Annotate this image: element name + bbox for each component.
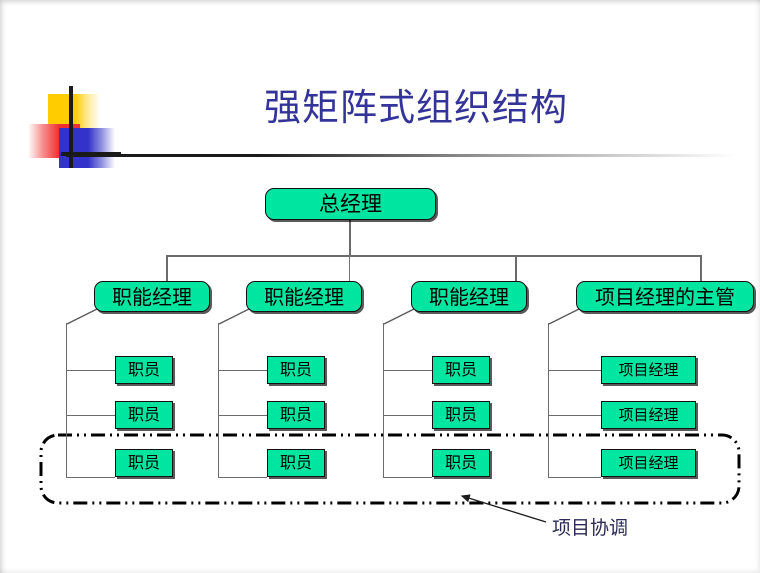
connector-branch-c4r3 (548, 477, 601, 478)
connector-branch-c2r2 (218, 415, 267, 416)
node-project-manager-c4r2-label: 项目经理 (618, 408, 678, 423)
node-functional-manager-3[interactable]: 职能经理 (411, 281, 527, 312)
node-staff-c3r2[interactable]: 职员 (432, 401, 490, 429)
node-staff-c3r1-label: 职员 (445, 362, 477, 378)
project-coordination-label: 项目协调 (552, 513, 628, 540)
connector-branch-c4r1 (548, 370, 601, 371)
node-project-manager-c4r3-label: 项目经理 (618, 456, 678, 471)
decoration-blue-square (59, 128, 115, 168)
node-staff-c1r3[interactable]: 职员 (115, 449, 173, 477)
node-project-manager-c4r1-label: 项目经理 (618, 363, 678, 378)
connector-branch-c1r3 (66, 477, 115, 478)
connector-drop-col1 (166, 255, 168, 281)
connector-drop-col2 (349, 255, 350, 281)
node-staff-c2r1-label: 职员 (280, 362, 312, 378)
connector-drop-col3 (515, 255, 517, 281)
node-staff-c2r2[interactable]: 职员 (267, 401, 325, 429)
connector-branch-c4r2 (548, 415, 601, 416)
connector-drop-col4 (700, 255, 702, 281)
connector-branch-c3r3 (383, 477, 432, 478)
node-staff-c1r1[interactable]: 职员 (115, 356, 173, 384)
node-general-manager-label: 总经理 (319, 194, 382, 215)
node-functional-manager-3-label: 职能经理 (429, 287, 509, 307)
connector-branch-c2r3 (218, 477, 267, 478)
connector-horizontal-bus (166, 255, 702, 257)
slide-content-area: 强矩阵式组织结构 (6, 6, 754, 567)
node-functional-manager-1[interactable]: 职能经理 (94, 281, 210, 312)
node-project-manager-supervisor-label: 项目经理的主管 (595, 287, 735, 307)
slide-canvas: 强矩阵式组织结构 (0, 0, 760, 573)
connector-spine-col4 (548, 323, 549, 478)
node-functional-manager-2[interactable]: 职能经理 (246, 281, 362, 312)
connector-spine-col1 (66, 323, 67, 478)
connector-branch-c1r2 (66, 415, 115, 416)
node-functional-manager-1-label: 职能经理 (112, 287, 192, 307)
node-staff-c1r2-label: 职员 (128, 407, 160, 423)
node-functional-manager-2-label: 职能经理 (264, 287, 344, 307)
node-project-manager-c4r3[interactable]: 项目经理 (601, 449, 696, 477)
connector-branch-c3r2 (383, 415, 432, 416)
node-staff-c3r3-label: 职员 (445, 455, 477, 471)
node-staff-c2r2-label: 职员 (280, 407, 312, 423)
node-staff-c3r3[interactable]: 职员 (432, 449, 490, 477)
connector-spine-col3 (383, 323, 384, 478)
title-divider (66, 154, 756, 157)
project-coordination-arrow (446, 490, 566, 530)
node-project-manager-c4r2[interactable]: 项目经理 (601, 401, 696, 429)
node-general-manager[interactable]: 总经理 (265, 188, 436, 220)
node-project-manager-supervisor[interactable]: 项目经理的主管 (576, 281, 754, 312)
node-staff-c3r2-label: 职员 (445, 407, 477, 423)
node-staff-c3r1[interactable]: 职员 (432, 356, 490, 384)
page-title: 强矩阵式组织结构 (156, 85, 676, 131)
connector-spine-col2 (218, 323, 219, 478)
connector-root-stem (349, 218, 351, 256)
node-staff-c2r1[interactable]: 职员 (267, 356, 325, 384)
connector-branch-c3r1 (383, 370, 432, 371)
node-staff-c2r3-label: 职员 (280, 455, 312, 471)
node-staff-c1r2[interactable]: 职员 (115, 401, 173, 429)
node-staff-c1r3-label: 职员 (128, 455, 160, 471)
node-staff-c1r1-label: 职员 (128, 362, 160, 378)
connector-branch-c1r1 (66, 370, 115, 371)
connector-branch-c2r1 (218, 370, 267, 371)
node-staff-c2r3[interactable]: 职员 (267, 449, 325, 477)
node-project-manager-c4r1[interactable]: 项目经理 (601, 356, 696, 384)
